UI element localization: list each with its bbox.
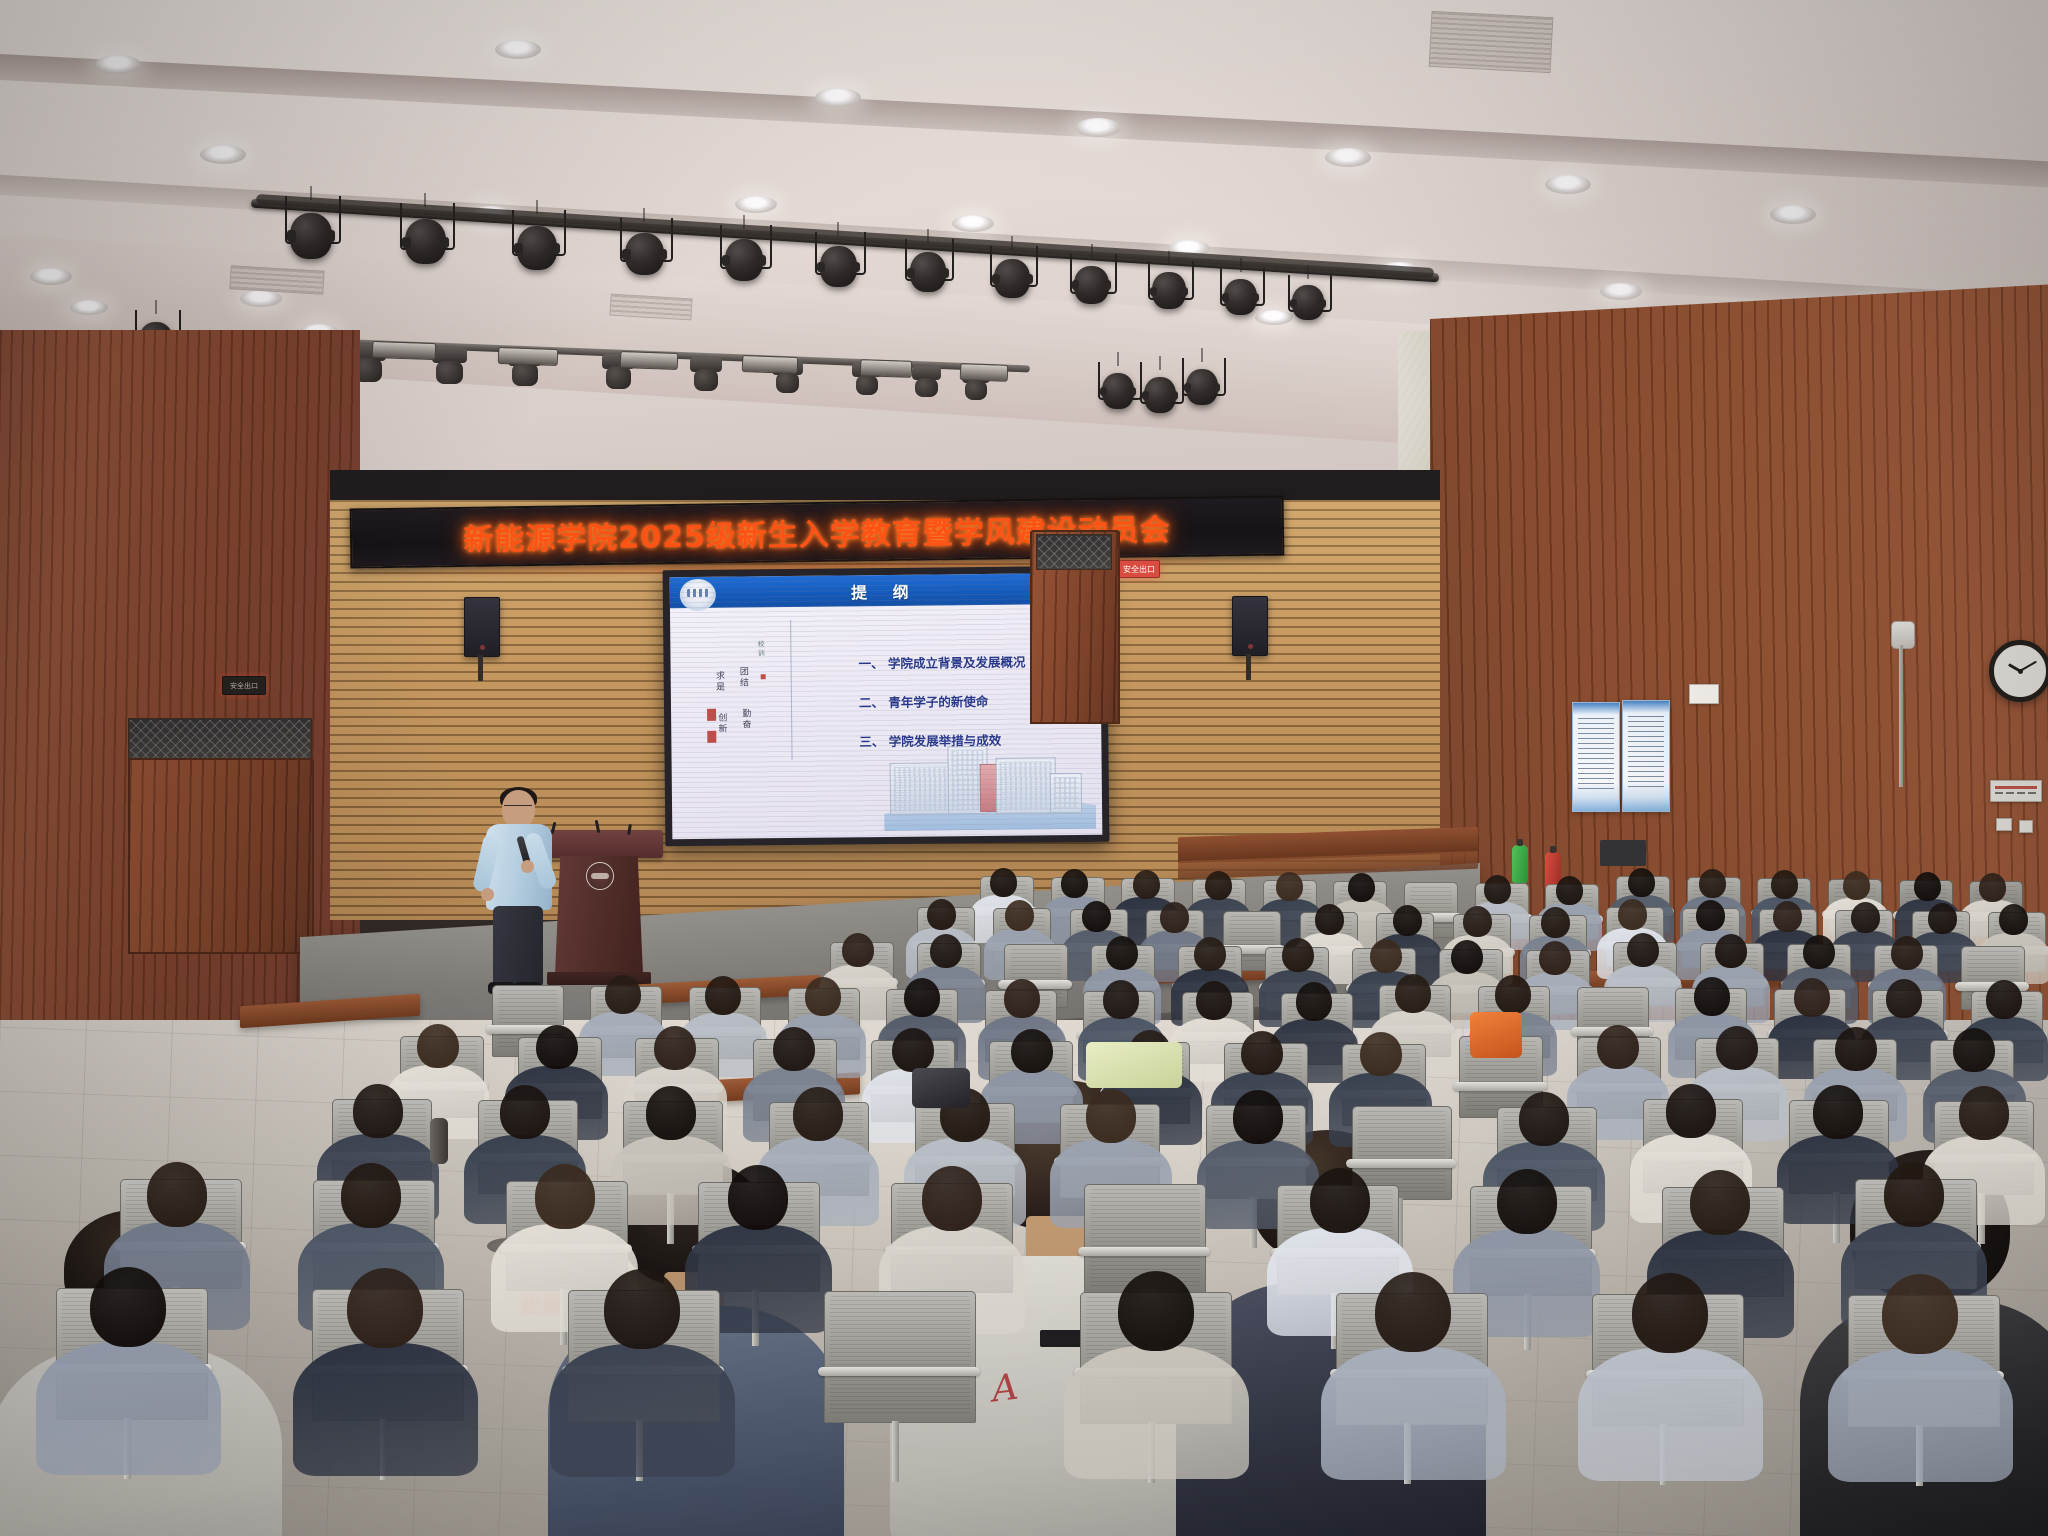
audience-head [793,1087,843,1141]
presenter-glasses-icon [504,805,532,812]
ceiling-downlight-b-0 [30,268,72,285]
ceiling-downlight-c-0 [70,300,108,315]
audience-head [1715,934,1747,969]
audience-head [1497,1169,1557,1234]
audience-seat [824,1291,976,1423]
calligraphy-seal-3 [761,674,766,679]
audience-head [1979,873,2006,902]
par-can-light-11 [1288,265,1328,321]
par-can-part-lens [817,262,825,273]
exit-sign-label: 安全出口 [230,681,258,691]
moving-head-head [965,380,986,399]
left-double-door[interactable] [128,758,314,954]
audience-head [1118,1271,1194,1352]
moving-head-head [606,366,631,388]
fire-extinguisher-green [1512,845,1528,883]
ceiling-downlight-a-4 [1075,118,1121,137]
par-can-light-right-wall [1098,352,1138,410]
par-can-part-lens [722,255,731,266]
stage-speaker-right [1232,596,1268,656]
illustration-building-right [996,757,1057,814]
audience-head [1282,938,1314,973]
wall-clock [1989,640,2048,702]
calligraphy-col-4: 校训 [756,640,765,658]
back-desk-monitor [1600,840,1646,866]
audience-head [90,1267,166,1348]
par-can-light-4 [720,215,768,283]
par-can-light-5 [815,222,862,288]
audience-head [1632,1273,1708,1354]
audience-head [1843,871,1870,900]
par-can-part-lens [551,243,560,254]
audience-head [1813,1085,1863,1139]
par-can-part-lens [1072,280,1080,290]
backpack-1 [912,1068,970,1108]
ceiling-downlight-a-3 [815,88,861,107]
calligraphy-col-1: 团结 [737,666,748,688]
podium [545,830,653,988]
audience-head [1627,933,1659,968]
par-can-light-6 [905,229,950,293]
audience-head [1690,1170,1750,1235]
flood-light-bar-0 [372,341,437,360]
audience-head [1393,905,1422,936]
campus-building-illustration [883,735,1096,831]
ceiling-vent-1 [1429,11,1554,73]
audience-head [1276,872,1303,901]
moving-head-head [694,369,718,391]
par-can-part-lens [940,268,948,278]
seat-armrest [1346,1159,1456,1168]
par-can-light-7 [990,236,1034,299]
audience-head [646,1086,696,1140]
par-can-part-lens [440,237,449,249]
audience-head [1004,979,1040,1018]
audience-head [1296,982,1332,1021]
moving-head-head [512,363,538,386]
stage-speaker-left-stand [478,655,483,681]
par-can-part-lens [658,249,667,260]
audience-head [1360,1032,1402,1077]
audience-head [1928,903,1957,934]
left-door-transom [128,718,312,762]
audience-head [1886,979,1922,1018]
auditorium-photo: 安全出口 新能源学院2025级新生入学教育暨学风建设动员会 提 纲 新能源学院 … [0,0,2048,1536]
audience-head [147,1162,207,1227]
seat-armrest [1078,1247,1210,1256]
slide-title: 提 纲 [851,578,919,603]
moving-head-head [915,378,937,398]
audience-head [1196,981,1232,1020]
par-can-light-1 [400,193,451,265]
moving-head-light-1 [432,347,467,384]
audience-head [1597,1025,1639,1070]
ceiling-downlight-a-1 [200,145,246,164]
audience-head [1628,868,1655,897]
presenter [480,790,558,1000]
par-can-light-2 [512,200,562,271]
audience-head [1315,904,1344,935]
wall-speaker-right [1891,621,1915,649]
audience-head [1395,974,1431,1013]
audience-head [1539,941,1571,976]
audience-shoulders [36,1342,221,1475]
audience-head [1348,873,1375,902]
audience-head [805,977,841,1016]
audience-head [1556,876,1583,905]
audience-head [1999,904,2028,935]
par-can-light-10 [1220,258,1261,316]
audience-head [1716,1026,1758,1071]
audience-head [1103,980,1139,1019]
audience-head [1194,937,1226,972]
par-can-part-lens [1290,299,1297,308]
wall-poster-1 [1572,702,1620,812]
flood-light-bar-5 [960,363,1009,382]
audience-head [1884,1162,1944,1227]
ceiling-downlight-b-4 [952,215,994,232]
audience-head [417,1024,459,1069]
par-can-part-lens [907,268,915,278]
par-can-light-0 [285,186,337,260]
calligraphy-seal-1 [707,709,716,721]
audience-head [930,934,962,969]
audience-head [1160,902,1189,933]
audience-shoulders [1578,1348,1763,1481]
flood-light-bar-2 [620,351,679,370]
audience-head [1451,940,1483,975]
par-can-part-lens [622,249,631,260]
wall-socket-box [1689,684,1719,704]
par-can-part-lens [402,237,411,249]
seat-armrest [818,1367,980,1376]
par-can-part-lens [1181,287,1189,297]
flood-light-bar-1 [498,347,559,366]
moving-head-head [856,375,879,395]
presenter-trousers [493,906,543,986]
audience-head [1106,936,1138,971]
audience-head [1205,871,1232,900]
exit-sign-right-label: 安全出口 [1123,564,1155,575]
audience-shoulders [1828,1349,2013,1482]
hoodie-script-graphic: A [990,1367,1021,1411]
university-crest-icon [586,862,614,890]
audience-head [1011,1029,1053,1074]
wall-switch-1 [1996,818,2012,831]
par-can-light-right-wall-3 [1182,348,1222,406]
ceiling-downlight-b-7 [1600,283,1642,300]
audience-head [1133,870,1160,899]
audience-head [927,899,956,930]
audience-head [341,1163,401,1228]
flood-light-bar-3 [742,355,799,374]
audience-head [1666,1084,1716,1138]
par-can-part-lens [1252,293,1259,302]
audience-head [1696,900,1725,931]
moving-head-light-7 [912,366,941,397]
calligraphy-col-2: 创新 [715,713,726,735]
illustration-building-left [890,762,955,815]
audience-head [1959,1086,2009,1140]
wall-switch-2 [2019,820,2033,833]
exit-sign-left: 安全出口 [222,676,266,695]
par-can-part-lens [514,243,523,254]
par-can-part-lens [1025,274,1033,284]
audience-head [1061,869,1088,898]
calligraphy-col-3: 勤奋 [739,708,750,730]
audience-head [1233,1090,1283,1144]
exit-sign-right: 安全出口 [1118,560,1160,578]
par-can-light-3 [620,208,669,277]
audience-head [353,1084,403,1138]
audience-head [1310,1168,1370,1233]
wall-safety-sign [1990,780,2042,802]
presenter-hand-left [481,888,494,901]
audience-head [1835,1027,1877,1072]
audience-head [1773,901,1802,932]
audience-head [1519,1092,1569,1146]
ceiling-downlight-a-6 [1545,175,1591,194]
seat-leg [892,1421,899,1482]
wall-poster-2 [1622,700,1670,812]
stage-speaker-right-stand [1246,654,1251,680]
audience-head [605,975,641,1014]
audience-head [842,933,874,968]
slide-calligraphy-block: 求是 团结 创新 勤奋 校训 [706,634,791,765]
par-can-light-right-wall-2 [1140,356,1180,414]
audience-head [1851,902,1880,933]
audience-head [1082,901,1111,932]
par-can-part-lens [851,262,859,273]
par-can-part-lens [1222,293,1229,302]
ceiling-downlight-b-3 [735,196,777,213]
audience-head [535,1164,595,1229]
podium-body [555,856,643,974]
flood-light-bar-4 [860,359,913,378]
audience-head [922,1166,982,1231]
audience-head [1771,870,1798,899]
audience-head [1882,1274,1958,1355]
audience-head [1986,980,2022,1019]
audience-head [1794,978,1830,1017]
audience-head [500,1085,550,1139]
audience-shoulders [1064,1346,1249,1479]
audience-head [1241,1031,1283,1076]
campus-gate-logo-icon [680,579,716,611]
audience-head [1463,906,1492,937]
illustration-building-far [1050,773,1082,813]
audience-head [892,1028,934,1073]
par-can-part-lens [1319,299,1326,308]
audience-shoulders [293,1343,478,1476]
par-can-part-lens [326,230,335,242]
moving-head-head [436,361,463,385]
audience-head [990,868,1017,897]
audience-head [773,1027,815,1072]
ceiling-downlight-b-1 [240,290,282,307]
water-bottle [430,1118,448,1164]
backpack-orange [1470,1012,1522,1058]
presenter-hand-right [521,860,534,873]
par-can-part-lens [992,274,1000,284]
seat-armrest [1453,1082,1547,1091]
audience-head [1618,899,1647,930]
stage-speaker-left [464,597,500,657]
audience-shoulders [1321,1347,1506,1480]
par-can-part-lens [757,255,766,266]
clock-center-pin [2018,669,2023,674]
audience-head [1953,1028,1995,1073]
audience-head [1495,975,1531,1014]
audience-head [1484,875,1511,904]
par-can-light-8 [1070,244,1113,305]
par-can-part-lens [1104,280,1112,290]
moving-head-light-4 [690,357,722,391]
audience-head [1375,1272,1451,1353]
right-side-door-transom [1036,534,1112,570]
audience-head [1086,1089,1136,1143]
audience-head [705,976,741,1015]
ceiling-downlight-a-7 [1770,205,1816,224]
audience-head [1694,977,1730,1016]
audience-head [536,1025,578,1070]
wall-conduit [1899,645,1903,787]
audience-head [654,1026,696,1071]
audience-head [1803,935,1835,970]
par-can-part-lens [1150,287,1158,297]
audience-head [1005,900,1034,931]
audience-head [1370,939,1402,974]
audience-head [1891,936,1923,971]
par-can-light-9 [1148,251,1190,311]
calligraphy-col-0: 求是 [713,671,724,693]
draped-jacket-1 [1086,1042,1182,1088]
audience-head [904,978,940,1017]
audience-head [604,1269,680,1350]
audience-head [1541,907,1570,938]
audience-head [728,1165,788,1230]
audience-shoulders [550,1344,735,1477]
ceiling-downlight-a-5 [1325,148,1371,167]
calligraphy-seal-2 [707,731,716,743]
ceiling-downlight-a-0 [95,55,141,74]
moving-head-head [776,372,800,393]
ceiling-downlight-a-2 [495,40,541,59]
audience-head [1914,872,1941,901]
audience-head [1699,869,1726,898]
audience-head [347,1268,423,1349]
par-can-part-lens [287,230,296,242]
